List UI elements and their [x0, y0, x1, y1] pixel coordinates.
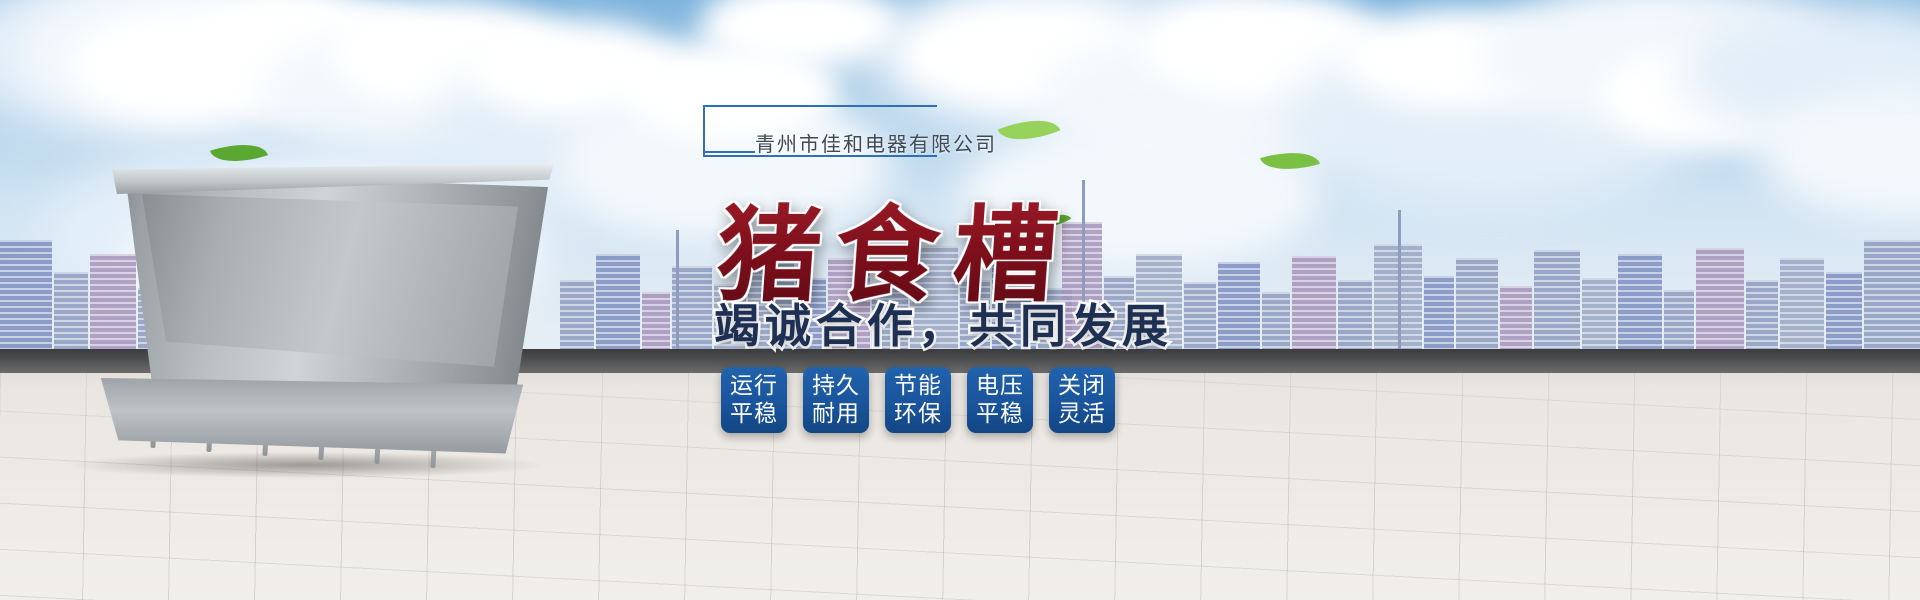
promo-banner: 青州市佳和电器有限公司 猪食槽 竭诚合作，共同发展 运行 平稳 持久 耐用 节能…	[0, 0, 1920, 600]
badge-line-2: 平稳	[976, 400, 1024, 428]
feature-badge-list: 运行 平稳 持久 耐用 节能 环保 电压 平稳 关闭 灵活	[721, 367, 1115, 433]
badge-line-1: 关闭	[1058, 372, 1106, 400]
badge-line-2: 环保	[894, 400, 942, 428]
product-image-pig-trough	[60, 150, 580, 480]
badge-line-2: 平稳	[730, 400, 778, 428]
company-name: 青州市佳和电器有限公司	[755, 128, 997, 157]
badge-line-1: 运行	[730, 372, 778, 400]
badge-line-2: 耐用	[812, 400, 860, 428]
badge-line-1: 电压	[976, 372, 1024, 400]
badge-line-1: 节能	[894, 372, 942, 400]
frame-underline	[703, 151, 755, 153]
badge-line-2: 灵活	[1058, 400, 1106, 428]
subtitle-slogan: 竭诚合作，共同发展	[714, 290, 1173, 356]
badge-line-1: 持久	[812, 372, 860, 400]
feature-badge[interactable]: 电压 平稳	[967, 367, 1033, 433]
feature-badge[interactable]: 运行 平稳	[721, 367, 787, 433]
feature-badge[interactable]: 关闭 灵活	[1049, 367, 1115, 433]
feature-badge[interactable]: 节能 环保	[885, 367, 951, 433]
feature-badge[interactable]: 持久 耐用	[803, 367, 869, 433]
